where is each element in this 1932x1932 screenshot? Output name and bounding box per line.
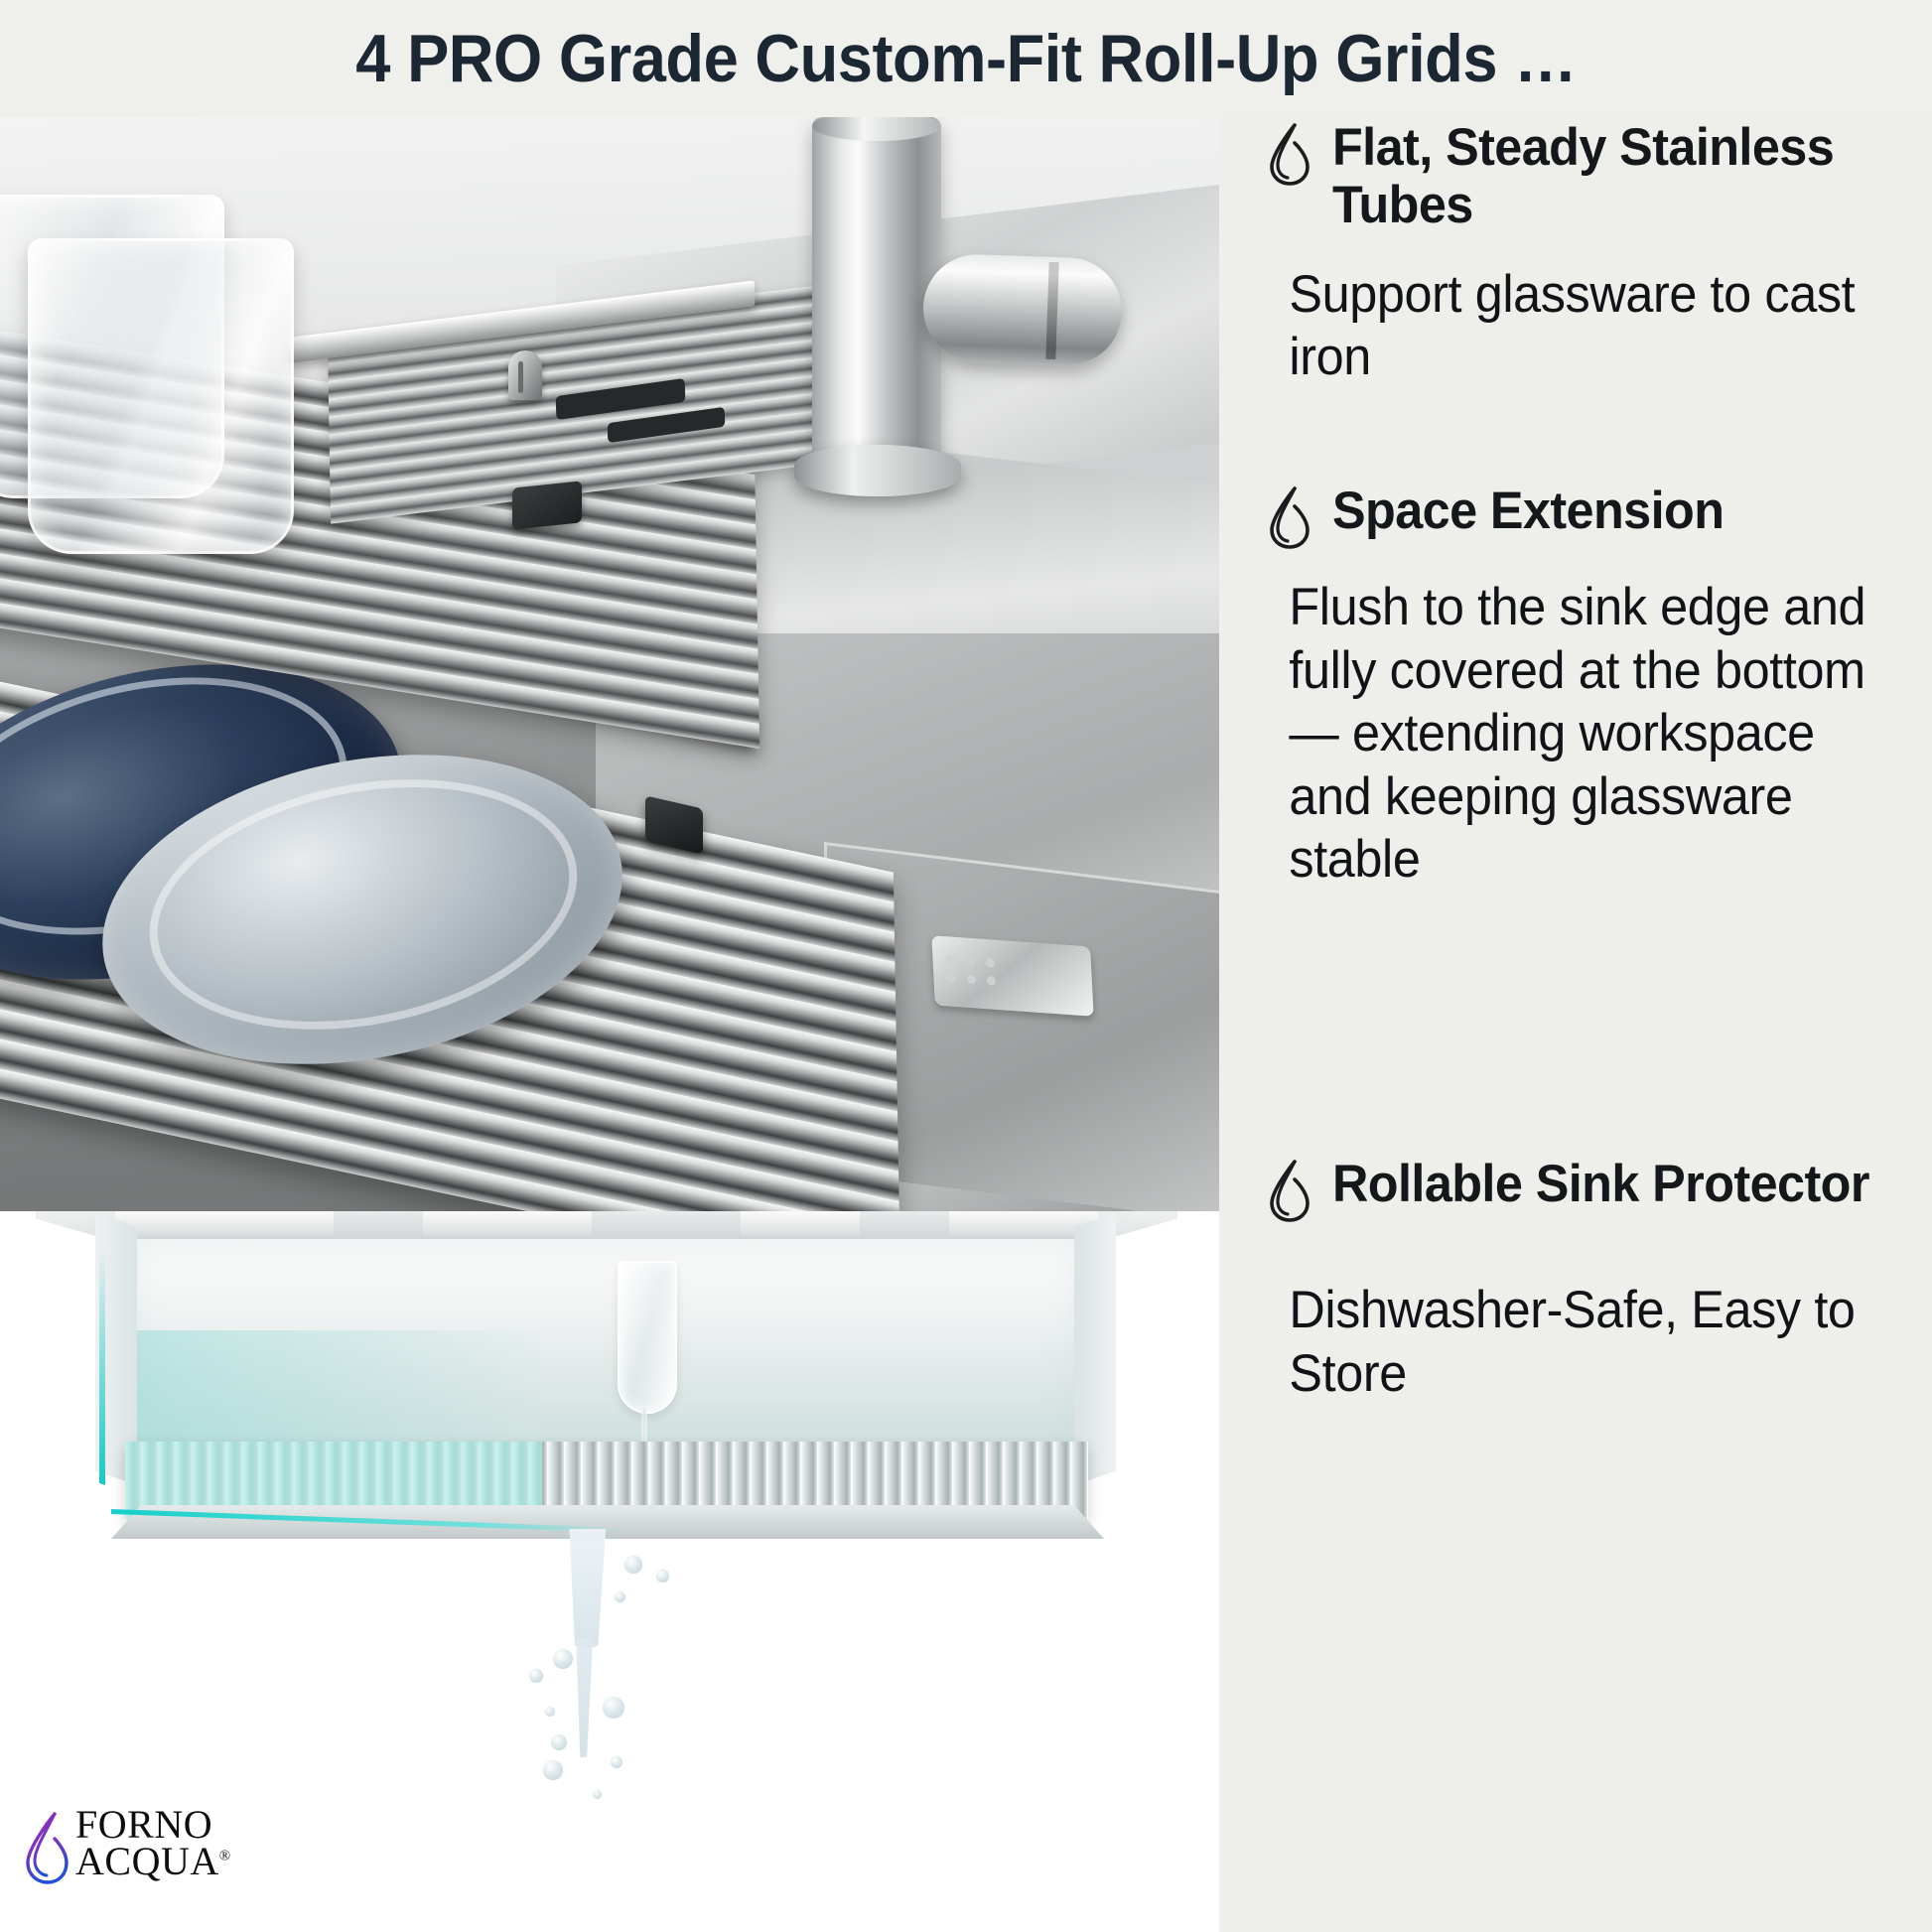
water-droplet bbox=[614, 1590, 626, 1603]
infographic-canvas: 4 PRO Grade Custom-Fit Roll-Up Grids … bbox=[0, 0, 1932, 1932]
water-droplet bbox=[550, 1733, 568, 1751]
feature-block: Flat, Steady Stainless Tubes Support gla… bbox=[1221, 119, 1932, 389]
champagne-flute-bowl bbox=[618, 1261, 677, 1414]
product-photo bbox=[0, 117, 1219, 1211]
brand-logo: FORNO ACQUA® bbox=[22, 1803, 270, 1894]
water-droplet bbox=[544, 1706, 556, 1718]
water-droplet-icon bbox=[1265, 121, 1316, 187]
registered-mark: ® bbox=[219, 1848, 231, 1863]
water-droplet-icon bbox=[1265, 1158, 1316, 1223]
feature-block: Rollable Sink Protector Dishwasher-Safe,… bbox=[1221, 1156, 1932, 1405]
faucet-base bbox=[794, 445, 961, 496]
feature-title: Rollable Sink Protector bbox=[1332, 1156, 1869, 1213]
feature-title: Space Extension bbox=[1332, 483, 1724, 540]
page-title: 4 PRO Grade Custom-Fit Roll-Up Grids … bbox=[355, 25, 1577, 92]
feature-heading-row: Rollable Sink Protector bbox=[1221, 1156, 1932, 1223]
water-stream bbox=[564, 1529, 610, 1648]
droplet-logo-icon bbox=[22, 1811, 77, 1886]
water-droplet-icon bbox=[1265, 484, 1316, 550]
feature-body: Dishwasher-Safe, Easy to Store bbox=[1221, 1279, 1896, 1405]
features-panel: Flat, Steady Stainless Tubes Support gla… bbox=[1221, 117, 1932, 1932]
feature-heading-row: Space Extension bbox=[1221, 483, 1932, 550]
feature-block: Space Extension Flush to the sink edge a… bbox=[1221, 483, 1932, 892]
feature-title: Flat, Steady Stainless Tubes bbox=[1332, 119, 1883, 235]
sink-rim-notch bbox=[592, 1211, 741, 1241]
header-band: 4 PRO Grade Custom-Fit Roll-Up Grids … bbox=[0, 0, 1932, 117]
water-droplet bbox=[623, 1555, 643, 1575]
faucet-spout bbox=[921, 253, 1124, 367]
water-droplet bbox=[602, 1696, 625, 1720]
logo-wordmark: FORNO ACQUA® bbox=[75, 1807, 231, 1880]
water-splash bbox=[506, 1529, 764, 1827]
water-droplet bbox=[592, 1789, 603, 1800]
water-droplet bbox=[528, 1668, 544, 1684]
sink-rim-notch bbox=[334, 1211, 423, 1241]
faucet-column bbox=[812, 117, 941, 475]
drinking-glass-front bbox=[28, 238, 294, 554]
sink-assembly bbox=[36, 1211, 1177, 1509]
grid-knob bbox=[508, 350, 542, 400]
grid-knob-slot bbox=[518, 361, 523, 393]
sink-teal-edge bbox=[99, 1247, 105, 1485]
roll-up-grid-upper-endcap bbox=[512, 481, 582, 529]
feature-body: Support glassware to cast iron bbox=[1221, 263, 1896, 389]
media-column: FORNO ACQUA® bbox=[0, 117, 1219, 1932]
water-droplet bbox=[610, 1755, 623, 1769]
sink-rim-notch bbox=[860, 1211, 949, 1241]
logo-line-2: ACQUA® bbox=[75, 1844, 231, 1880]
water-droplet bbox=[552, 1648, 574, 1670]
water-droplet bbox=[542, 1759, 564, 1781]
feature-heading-row: Flat, Steady Stainless Tubes bbox=[1221, 119, 1932, 235]
water-droplet bbox=[655, 1569, 670, 1584]
feature-body: Flush to the sink edge and fully covered… bbox=[1221, 576, 1896, 892]
